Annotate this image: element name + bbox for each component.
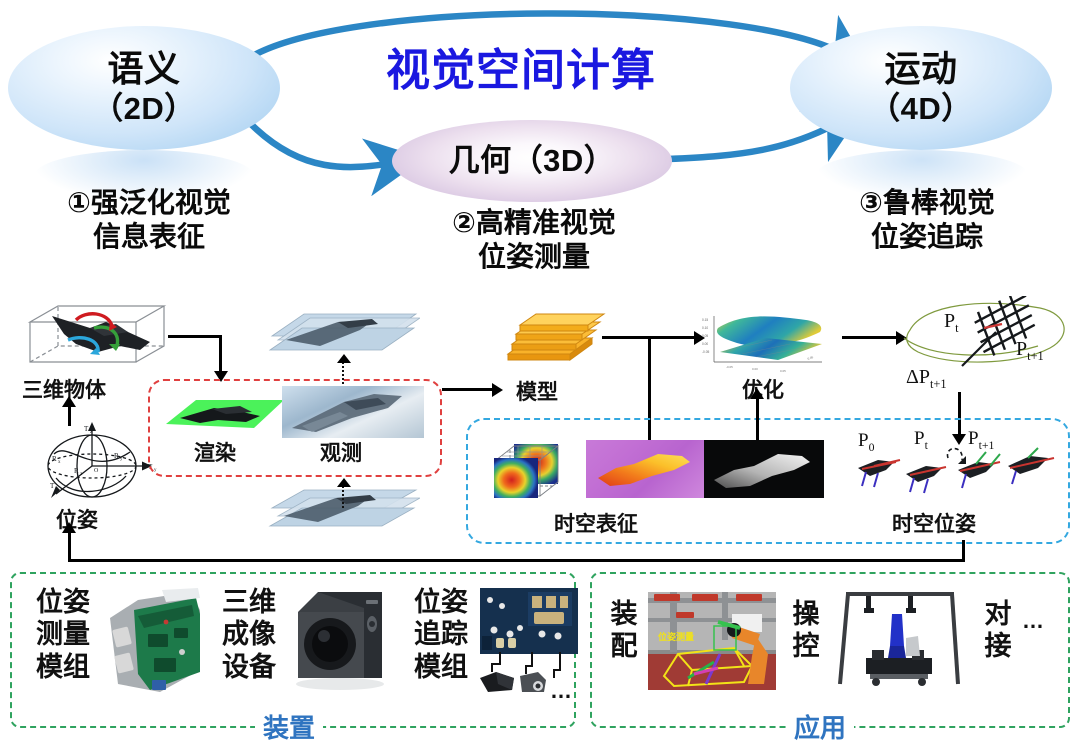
svg-text:O: O <box>94 468 99 474</box>
arrow-render-to-model-head <box>492 383 503 397</box>
spatiotemporal-pose-figure <box>852 442 1060 504</box>
node-semantics[interactable]: 语义 （2D） <box>8 26 280 150</box>
observation-stack-bottom <box>268 486 420 542</box>
device-label-pose-measurement: 位姿 测量 模组 <box>28 586 98 683</box>
arrow-pose-to-object-head <box>62 396 76 407</box>
node-motion[interactable]: 运动 （4D） <box>790 26 1052 150</box>
svg-text:-0.05: -0.05 <box>726 365 733 369</box>
arrow-render-to-model <box>442 388 494 391</box>
devices-ellipsis: … <box>550 678 572 704</box>
app-label-assembly: 装 配 <box>604 598 644 663</box>
app-label-docking: 对 接 <box>978 598 1018 663</box>
pose-figure: Tz Ty Tx Rx Rz Ry O <box>34 418 160 504</box>
svg-text:T: T <box>50 482 55 490</box>
svg-text:0.05: 0.05 <box>807 355 814 361</box>
devices-box-label: 装置 <box>255 708 323 745</box>
device-label-pose-tracking: 位姿 追踪 模组 <box>406 586 476 683</box>
node-motion-line1: 运动 <box>869 49 973 89</box>
arrow-object-to-render-h <box>168 335 222 338</box>
feedback-line-h <box>68 559 965 562</box>
svg-text:0.15: 0.15 <box>702 318 708 322</box>
node-motion-text: 运动 （4D） <box>869 49 973 126</box>
svg-text:R: R <box>74 467 79 475</box>
arc-semantics-to-geometry <box>246 119 400 167</box>
svg-text:0.00: 0.00 <box>752 367 758 371</box>
dotted-observe-up-head <box>337 354 351 363</box>
arrow-repr-to-optimize-line <box>756 398 759 440</box>
dotted-observe-down-head <box>337 478 351 487</box>
label-observe: 观测 <box>320 437 362 467</box>
svg-text:0.05: 0.05 <box>780 369 786 373</box>
observe-thumbnail <box>282 386 424 438</box>
label-spatiotemporal-representation: 时空表征 <box>554 508 638 538</box>
svg-text:位姿测量: 位姿测量 <box>658 631 694 642</box>
math-p0: P0 <box>858 430 874 455</box>
depth-mask-image <box>704 440 824 498</box>
svg-text:y: y <box>120 457 123 462</box>
svg-text:-0.05: -0.05 <box>702 350 709 354</box>
app-image-docking <box>838 592 962 690</box>
optimize-figure: 0.150.10 0.050.00 -0.05 -0.050.000.05 0.… <box>696 306 838 378</box>
svg-text:0.05: 0.05 <box>702 334 708 338</box>
node-semantics-line2: （2D） <box>92 92 196 127</box>
math-pt1-seq: Pt+1 <box>968 428 994 453</box>
math-pt1-manifold: Pt+1 <box>1016 338 1044 364</box>
node-semantics-text: 语义 （2D） <box>92 49 196 126</box>
app-label-operation: 操 控 <box>786 598 826 663</box>
svg-text:0.00: 0.00 <box>702 342 708 346</box>
page-title: 视觉空间计算 <box>386 34 656 98</box>
label-spatiotemporal-pose: 时空位姿 <box>892 508 976 538</box>
voxel-heatmap-figure <box>488 440 572 502</box>
object-3d-figure <box>24 300 170 374</box>
diagram-canvas: 语义 （2D） 几何（3D） 运动 （4D） 视觉空间计算 ①强泛化视觉 信息表… <box>0 0 1080 753</box>
applications-box-label: 应用 <box>786 708 854 745</box>
feedback-line-v-left <box>68 530 71 561</box>
node-geometry-text: 几何（3D） <box>449 144 616 179</box>
applications-ellipsis: … <box>1022 608 1044 634</box>
device-label-3d-imaging: 三维 成像 设备 <box>214 586 284 683</box>
svg-text:x: x <box>58 460 61 465</box>
svg-text:R: R <box>52 455 57 463</box>
node-semantics-line1: 语义 <box>92 49 196 89</box>
svg-text:R: R <box>114 452 119 460</box>
label-render: 渲染 <box>194 437 236 467</box>
math-pt-seq: Pt <box>914 428 928 453</box>
math-delta-pt1: ΔPt+1 <box>906 366 947 392</box>
optical-flow-image <box>586 440 704 498</box>
arrow-object-to-render-v <box>219 335 222 373</box>
arrow-pose-to-object-line <box>68 406 71 426</box>
device-image-3d-imaging <box>290 586 400 696</box>
device-image-pose-measurement <box>104 588 206 698</box>
caption-2: ②高精准视觉 位姿测量 <box>400 206 668 274</box>
dotted-observe-up <box>342 362 344 384</box>
node-motion-line2: （4D） <box>869 92 973 127</box>
render-thumbnail <box>160 390 288 438</box>
math-pt-manifold: Pt <box>944 310 959 336</box>
caption-3: ③鲁棒视觉 位姿追踪 <box>798 186 1056 254</box>
dotted-observe-down <box>342 486 344 508</box>
caption-1: ①强泛化视觉 信息表征 <box>18 186 280 254</box>
app-image-assembly: 位姿测量 <box>648 592 776 690</box>
label-model: 模型 <box>516 376 558 406</box>
svg-text:T: T <box>84 425 89 433</box>
feedback-line-head <box>62 522 76 533</box>
node-geometry[interactable]: 几何（3D） <box>392 120 672 202</box>
svg-text:0.10: 0.10 <box>702 326 708 330</box>
arrow-repr-to-optimize-head <box>750 388 764 399</box>
arrow-optimize-to-manifold <box>842 336 900 339</box>
model-figure <box>504 308 612 376</box>
